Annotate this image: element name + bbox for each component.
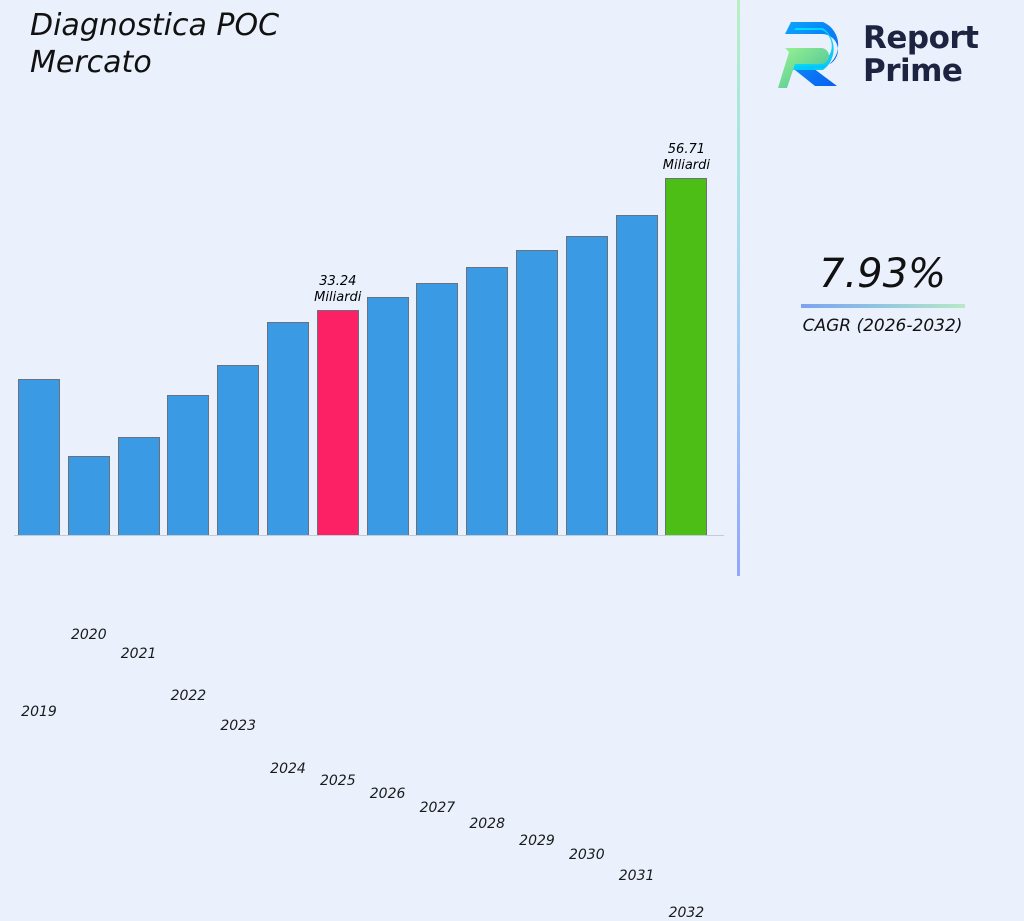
bar-group: 2028 [466,267,508,535]
bar-group: 2020 [68,456,110,535]
x-axis-label-2021: 2021 [109,646,169,662]
bar-2026[interactable] [367,297,409,535]
bar-group: 2031 [616,215,658,535]
x-axis-line [14,535,724,536]
bar-group: 2024 [267,322,309,535]
report-prime-logo-mark [777,18,853,92]
bar-2021[interactable] [118,437,160,535]
logo-wordmark: Report Prime [863,22,979,87]
bar-group: 2022 [167,395,209,535]
report-prime-logo: Report Prime [777,12,1007,98]
bar-group: 2023 [217,365,259,535]
cagr-value: 7.93% [741,254,1024,294]
bar-group: 2019 [18,379,60,535]
x-axis-label-2020: 2020 [59,627,119,643]
chart-panel: Diagnostica POC Mercato 2019202020212022… [0,0,738,576]
cagr-block: 7.93% CAGR (2026-2032) [741,254,1024,336]
bar-group: 2027 [416,283,458,535]
bar-2020[interactable] [68,456,110,535]
x-axis-label-2023: 2023 [208,718,268,734]
bar-2032[interactable] [665,178,707,535]
cagr-label: CAGR (2026-2032) [741,316,1024,336]
bar-group: 33.24 Miliardi2025 [317,310,359,535]
cagr-divider-rule [801,304,965,308]
panel-divider [737,0,740,576]
infographic-root: Diagnostica POC Mercato 2019202020212022… [0,0,1024,576]
bar-2028[interactable] [466,267,508,535]
bar-2029[interactable] [516,250,558,535]
bar-group: 2030 [566,236,608,535]
bar-2027[interactable] [416,283,458,535]
bar-chart: 20192020202120222023202433.24 Miliardi20… [0,0,738,576]
x-axis-label-2031: 2031 [607,868,667,884]
brand-panel: Report Prime 7.93% CAGR (2026-2032) [741,0,1024,576]
bar-group: 2026 [367,297,409,535]
bar-2024[interactable] [267,322,309,535]
bar-2022[interactable] [167,395,209,535]
x-axis-label-2028: 2028 [457,816,517,832]
bar-group: 56.71 Miliardi2032 [665,178,707,535]
bar-group: 2021 [118,437,160,535]
x-axis-label-2027: 2027 [407,800,467,816]
bar-2030[interactable] [566,236,608,535]
bar-2019[interactable] [18,379,60,535]
bar-group: 2029 [516,250,558,535]
bar-2031[interactable] [616,215,658,535]
x-axis-label-2030: 2030 [557,847,617,863]
bar-value-label-2032: 56.71 Miliardi [631,142,741,174]
bar-2025[interactable] [317,310,359,535]
x-axis-label-2022: 2022 [158,688,218,704]
bar-2023[interactable] [217,365,259,535]
x-axis-label-2032: 2032 [656,905,716,921]
x-axis-label-2019: 2019 [9,704,69,720]
